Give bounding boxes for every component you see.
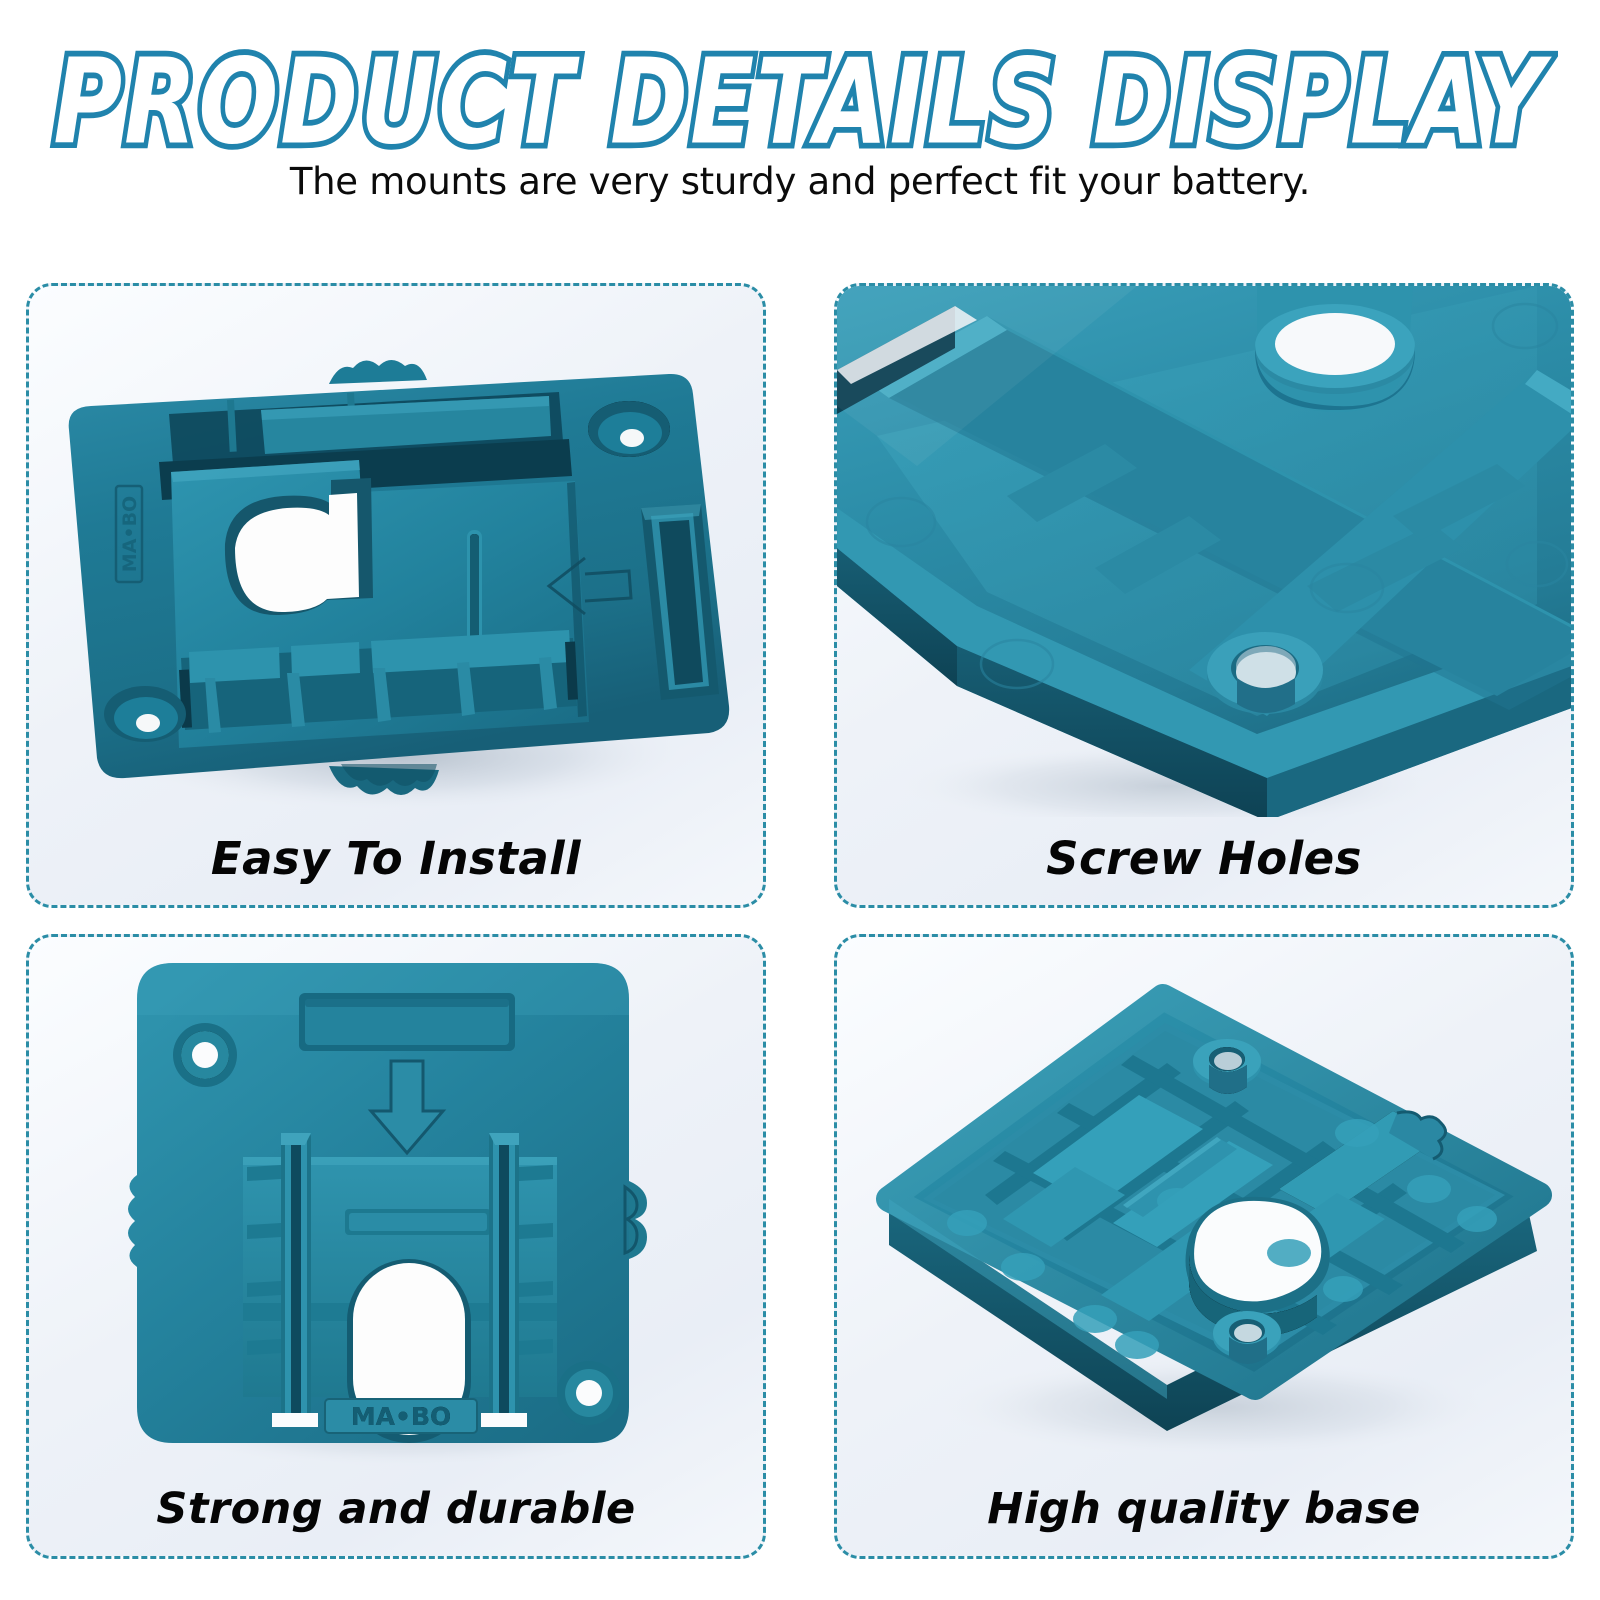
panel-caption-screw-holes: Screw Holes	[837, 817, 1571, 899]
panel-screw-holes[interactable]: Screw Holes	[834, 283, 1574, 908]
brand-mark-text-2: MA•BO	[351, 1402, 452, 1431]
page-subtitle: The mounts are very sturdy and perfect f…	[0, 160, 1600, 203]
brand-mark-plaque: MA•BO	[116, 486, 142, 582]
product-photo-macro-underside-corner	[837, 286, 1571, 817]
panel-caption-easy-to-install: Easy To Install	[29, 817, 763, 899]
product-photo-front-flat: MA•BO MA•BO	[29, 937, 763, 1468]
panel-strong-and-durable[interactable]: MA•BO MA•BO Strong and durable	[26, 934, 766, 1559]
product-photo-underside-perspective	[837, 937, 1571, 1468]
screw-boss-hole	[1207, 632, 1323, 714]
screw-hole-top-right	[588, 401, 670, 457]
product-detail-grid: MA•BO Easy To Install	[26, 283, 1574, 1559]
product-photo-front-three-quarter: MA•BO	[29, 286, 763, 817]
screw-hole-bottom-left	[104, 686, 186, 742]
mount-front-flat-illustration: MA•BO MA•BO	[29, 937, 763, 1468]
mount-front-three-quarter-illustration: MA•BO	[29, 286, 763, 817]
brand-mark-plaque: MA•BO MA•BO	[325, 1399, 477, 1433]
page-title: PRODUCT DETAILS DISPLAY	[54, 44, 1546, 162]
panel-caption-high-quality-base: High quality base	[837, 1468, 1571, 1550]
panel-easy-to-install[interactable]: MA•BO Easy To Install	[26, 283, 766, 908]
screw-hole-bottom-right	[557, 1361, 621, 1425]
panel-caption-strong-and-durable: Strong and durable	[29, 1468, 763, 1550]
page-title-container: PRODUCT DETAILS DISPLAY	[0, 44, 1600, 136]
top-slot	[299, 993, 515, 1051]
page-header: PRODUCT DETAILS DISPLAY The mounts are v…	[0, 0, 1600, 232]
panel-high-quality-base[interactable]: High quality base	[834, 934, 1574, 1559]
screw-hole-macro-illustration	[837, 286, 1571, 817]
screw-hole-top-left	[173, 1023, 237, 1087]
mount-underside-perspective-illustration	[837, 937, 1571, 1468]
brand-mark-text: MA•BO	[119, 496, 141, 572]
